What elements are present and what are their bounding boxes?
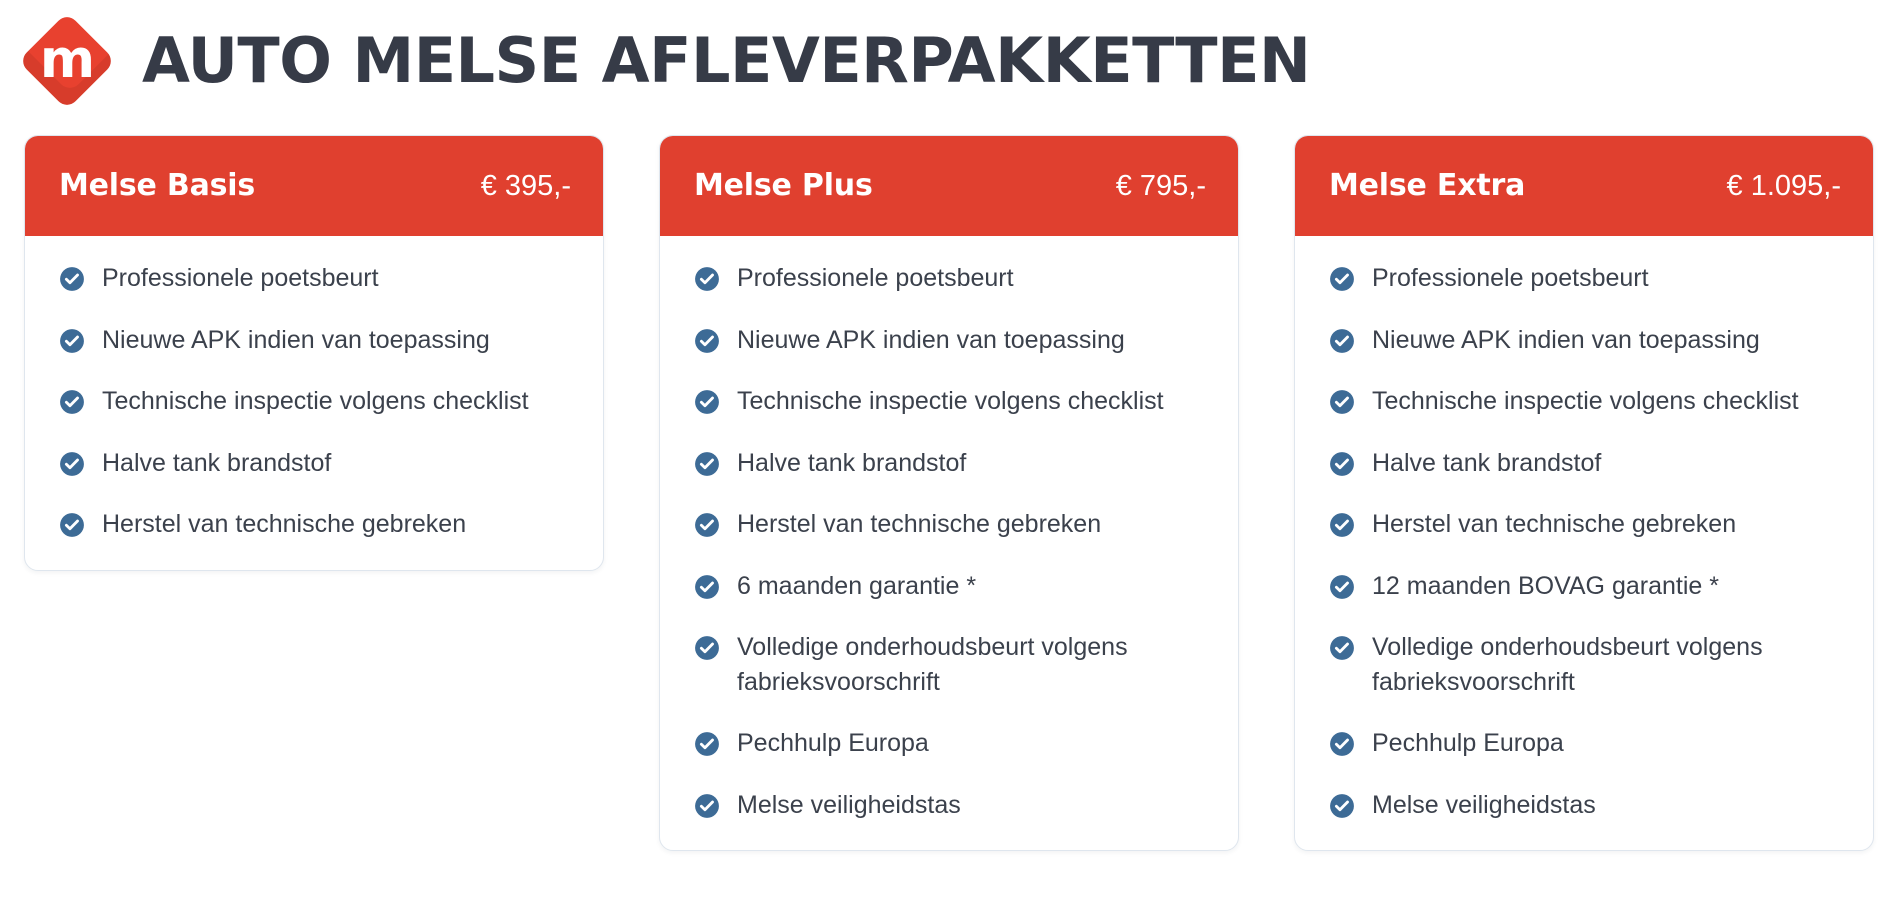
- list-item: Pechhulp Europa: [694, 726, 1208, 761]
- check-circle-icon: [59, 389, 85, 415]
- melse-logo: m: [18, 12, 116, 110]
- list-item: Halve tank brandstof: [59, 446, 573, 481]
- check-circle-icon: [59, 451, 85, 477]
- check-circle-icon: [694, 574, 720, 600]
- list-item: Herstel van technische gebreken: [694, 507, 1208, 542]
- feature-list: Professionele poetsbeurt Nieuwe APK indi…: [1295, 236, 1873, 850]
- list-item: Herstel van technische gebreken: [1329, 507, 1843, 542]
- package-name: Melse Basis: [59, 171, 255, 201]
- list-item: Technische inspectie volgens checklist: [59, 384, 573, 419]
- check-circle-icon: [59, 328, 85, 354]
- feature-label: Professionele poetsbeurt: [102, 261, 379, 296]
- package-card-basis[interactable]: Melse Basis € 395,- Professionele poetsb…: [24, 135, 604, 571]
- list-item: Melse veiligheidstas: [1329, 788, 1843, 823]
- list-item: Professionele poetsbeurt: [59, 261, 573, 296]
- feature-label: Volledige onderhoudsbeurt volgens fabrie…: [737, 630, 1207, 699]
- check-circle-icon: [1329, 266, 1355, 292]
- logo-letter-m: m: [18, 12, 116, 110]
- feature-label: Nieuwe APK indien van toepassing: [737, 323, 1125, 358]
- check-circle-icon: [694, 266, 720, 292]
- check-circle-icon: [1329, 635, 1355, 661]
- package-price: € 795,-: [1116, 172, 1206, 201]
- feature-label: Herstel van technische gebreken: [1372, 507, 1736, 542]
- list-item: 6 maanden garantie *: [694, 569, 1208, 604]
- card-header: Melse Extra € 1.095,-: [1295, 136, 1873, 236]
- feature-label: Herstel van technische gebreken: [102, 507, 466, 542]
- list-item: Professionele poetsbeurt: [1329, 261, 1843, 296]
- check-circle-icon: [1329, 793, 1355, 819]
- list-item: Nieuwe APK indien van toepassing: [1329, 323, 1843, 358]
- feature-label: Technische inspectie volgens checklist: [737, 384, 1164, 419]
- list-item: Nieuwe APK indien van toepassing: [694, 323, 1208, 358]
- feature-label: Pechhulp Europa: [1372, 726, 1564, 761]
- feature-label: Professionele poetsbeurt: [737, 261, 1014, 296]
- list-item: Professionele poetsbeurt: [694, 261, 1208, 296]
- feature-label: 12 maanden BOVAG garantie *: [1372, 569, 1719, 604]
- list-item: Technische inspectie volgens checklist: [694, 384, 1208, 419]
- package-price: € 1.095,-: [1727, 172, 1841, 201]
- feature-label: Technische inspectie volgens checklist: [1372, 384, 1799, 419]
- package-name: Melse Plus: [694, 171, 873, 201]
- card-header: Melse Plus € 795,-: [660, 136, 1238, 236]
- check-circle-icon: [694, 389, 720, 415]
- check-circle-icon: [694, 451, 720, 477]
- check-circle-icon: [694, 731, 720, 757]
- check-circle-icon: [694, 635, 720, 661]
- list-item: Melse veiligheidstas: [694, 788, 1208, 823]
- package-card-extra[interactable]: Melse Extra € 1.095,- Professionele poet…: [1294, 135, 1874, 851]
- feature-list: Professionele poetsbeurt Nieuwe APK indi…: [660, 236, 1238, 850]
- page-title: AUTO MELSE AFLEVERPAKKETTEN: [142, 30, 1310, 92]
- feature-label: Halve tank brandstof: [102, 446, 331, 481]
- check-circle-icon: [1329, 731, 1355, 757]
- package-card-plus[interactable]: Melse Plus € 795,- Professionele poetsbe…: [659, 135, 1239, 851]
- package-price: € 395,-: [481, 172, 571, 201]
- feature-list: Professionele poetsbeurt Nieuwe APK indi…: [25, 236, 603, 570]
- package-name: Melse Extra: [1329, 171, 1525, 201]
- check-circle-icon: [1329, 328, 1355, 354]
- feature-label: Halve tank brandstof: [737, 446, 966, 481]
- feature-label: 6 maanden garantie *: [737, 569, 976, 604]
- feature-label: Volledige onderhoudsbeurt volgens fabrie…: [1372, 630, 1842, 699]
- check-circle-icon: [1329, 574, 1355, 600]
- feature-label: Professionele poetsbeurt: [1372, 261, 1649, 296]
- list-item: Technische inspectie volgens checklist: [1329, 384, 1843, 419]
- check-circle-icon: [1329, 512, 1355, 538]
- check-circle-icon: [694, 793, 720, 819]
- list-item: Nieuwe APK indien van toepassing: [59, 323, 573, 358]
- check-circle-icon: [59, 512, 85, 538]
- feature-label: Herstel van technische gebreken: [737, 507, 1101, 542]
- feature-label: Melse veiligheidstas: [1372, 788, 1596, 823]
- feature-label: Halve tank brandstof: [1372, 446, 1601, 481]
- list-item: Herstel van technische gebreken: [59, 507, 573, 542]
- list-item: Pechhulp Europa: [1329, 726, 1843, 761]
- check-circle-icon: [694, 328, 720, 354]
- list-item: Volledige onderhoudsbeurt volgens fabrie…: [694, 630, 1208, 699]
- check-circle-icon: [1329, 389, 1355, 415]
- package-cards: Melse Basis € 395,- Professionele poetsb…: [0, 112, 1900, 851]
- feature-label: Technische inspectie volgens checklist: [102, 384, 529, 419]
- pricing-page: m AUTO MELSE AFLEVERPAKKETTEN Melse Basi…: [0, 0, 1900, 900]
- feature-label: Melse veiligheidstas: [737, 788, 961, 823]
- page-header: m AUTO MELSE AFLEVERPAKKETTEN: [0, 0, 1900, 112]
- list-item: Halve tank brandstof: [1329, 446, 1843, 481]
- list-item: Halve tank brandstof: [694, 446, 1208, 481]
- feature-label: Pechhulp Europa: [737, 726, 929, 761]
- check-circle-icon: [1329, 451, 1355, 477]
- check-circle-icon: [694, 512, 720, 538]
- list-item: 12 maanden BOVAG garantie *: [1329, 569, 1843, 604]
- feature-label: Nieuwe APK indien van toepassing: [102, 323, 490, 358]
- card-header: Melse Basis € 395,-: [25, 136, 603, 236]
- list-item: Volledige onderhoudsbeurt volgens fabrie…: [1329, 630, 1843, 699]
- feature-label: Nieuwe APK indien van toepassing: [1372, 323, 1760, 358]
- check-circle-icon: [59, 266, 85, 292]
